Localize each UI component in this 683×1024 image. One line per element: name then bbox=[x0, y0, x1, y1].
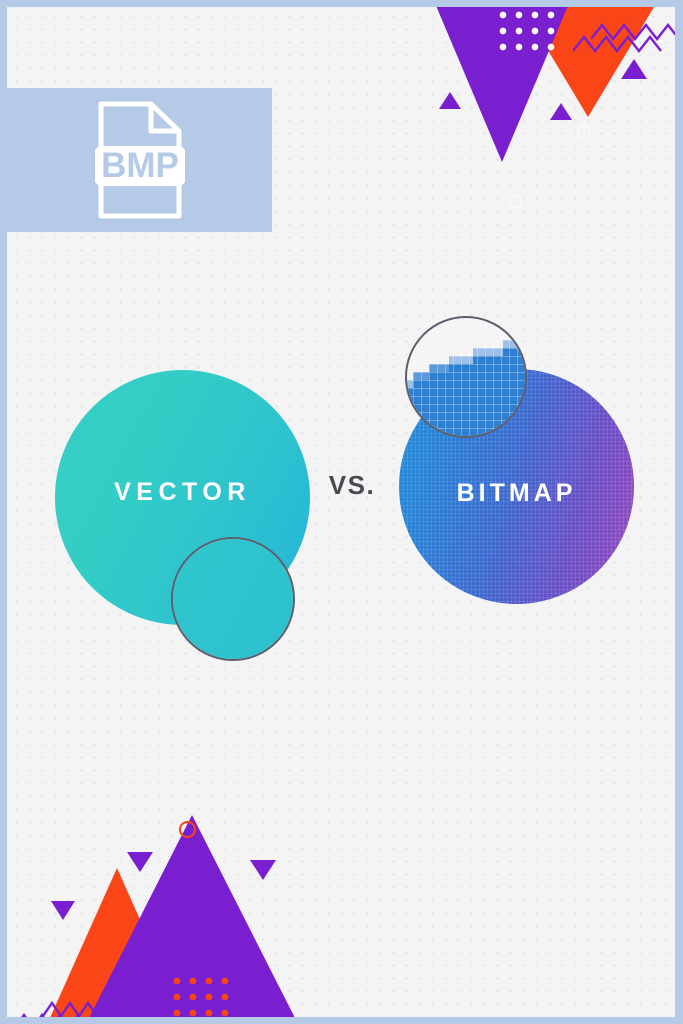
vector-magnifier-content bbox=[171, 537, 295, 661]
white-ring-top-1 bbox=[577, 125, 590, 138]
orange-ring-bottom-2 bbox=[105, 894, 122, 911]
orange-dot-grid-bottom bbox=[169, 973, 237, 1017]
bmp-extension-label: BMP bbox=[101, 146, 179, 185]
purple-triangle-up-small-2 bbox=[550, 103, 572, 120]
vector-smooth-edge bbox=[171, 537, 295, 661]
bitmap-label: BITMAP bbox=[399, 479, 634, 508]
orange-ring-bottom-1 bbox=[179, 821, 196, 838]
bmp-header-band: BMP bbox=[7, 88, 272, 232]
purple-triangle-down-small-1 bbox=[51, 901, 75, 920]
poster-canvas: BMP VECTOR VS. BITMAP bbox=[7, 7, 675, 1017]
bitmap-magnifier-pixel-grid bbox=[405, 316, 527, 438]
bitmap-magnifier bbox=[405, 316, 527, 438]
purple-triangle-up-small-3 bbox=[621, 59, 647, 79]
poster-graphic: BMP VECTOR VS. BITMAP bbox=[0, 0, 683, 1024]
white-dot-grid-top bbox=[495, 7, 555, 55]
purple-triangle-up-small-1 bbox=[439, 92, 461, 109]
purple-triangle-down-small-3 bbox=[250, 860, 276, 880]
white-ring-top-2 bbox=[509, 195, 522, 208]
bitmap-magnifier-content bbox=[405, 316, 527, 438]
purple-triangle-down-small-2 bbox=[127, 852, 153, 872]
vector-label: VECTOR bbox=[55, 478, 310, 507]
versus-label: VS. bbox=[312, 470, 392, 501]
vector-magnifier bbox=[171, 537, 295, 661]
purple-zigzag-bottom-2 bbox=[15, 1010, 90, 1017]
bmp-file-icon: BMP bbox=[95, 100, 185, 220]
purple-zigzag-top-2 bbox=[573, 33, 663, 55]
